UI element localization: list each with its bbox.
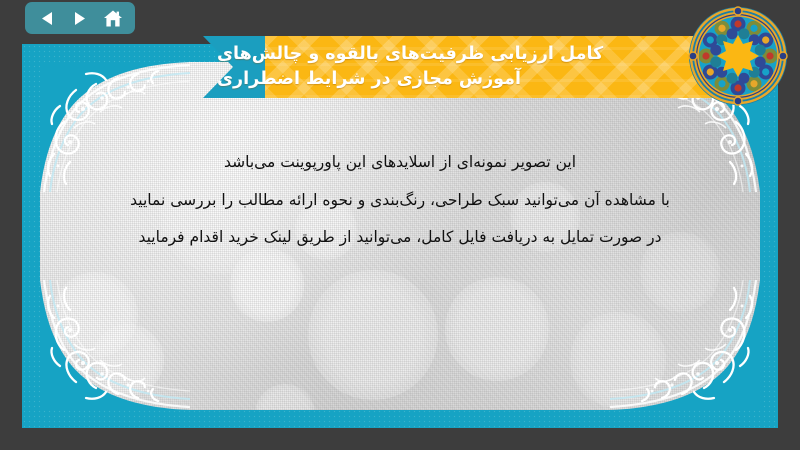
triangle-right-icon [71,10,88,27]
body-line-1: این تصویر نمونه‌ای از اسلایدهای این پاور… [80,144,720,182]
decorative-frame: این تصویر نمونه‌ای از اسلایدهای این پاور… [22,44,778,428]
slide-content-panel: این تصویر نمونه‌ای از اسلایدهای این پاور… [40,62,760,410]
slide-title-line-2: آموزش مجازی در شرایط اضطراری [217,67,521,92]
arabesque-corner-ornament-icon [40,280,190,410]
bokeh-circle [92,324,164,396]
arabesque-corner-ornament-icon [610,280,760,410]
slide-title: کامل ارزیابی ظرفیت‌های بالقوه و چالش‌های… [203,36,746,98]
bokeh-circle [445,277,549,381]
navigation-bar[interactable] [25,2,135,34]
body-line-3: در صورت تمایل به دریافت فایل کامل، می‌تو… [80,219,720,257]
home-button[interactable] [99,5,127,31]
bokeh-circle [570,312,666,408]
body-line-2: با مشاهده آن می‌توانید سبک طراحی، رنگ‌بن… [80,182,720,220]
previous-button[interactable] [33,5,61,31]
slide-title-banner: کامل ارزیابی ظرفیت‌های بالقوه و چالش‌های… [203,36,746,98]
slide-root: این تصویر نمونه‌ای از اسلایدهای این پاور… [0,0,800,450]
bokeh-circle [308,270,438,400]
bokeh-circle [230,248,304,322]
next-button[interactable] [66,5,94,31]
home-icon [103,9,123,28]
bokeh-circle [255,384,315,410]
triangle-left-icon [39,10,56,27]
slide-title-line-1: کامل ارزیابی ظرفیت‌های بالقوه و چالش‌های [217,42,603,67]
slide-body-text: این تصویر نمونه‌ای از اسلایدهای این پاور… [80,144,720,257]
bokeh-circle [52,272,138,358]
